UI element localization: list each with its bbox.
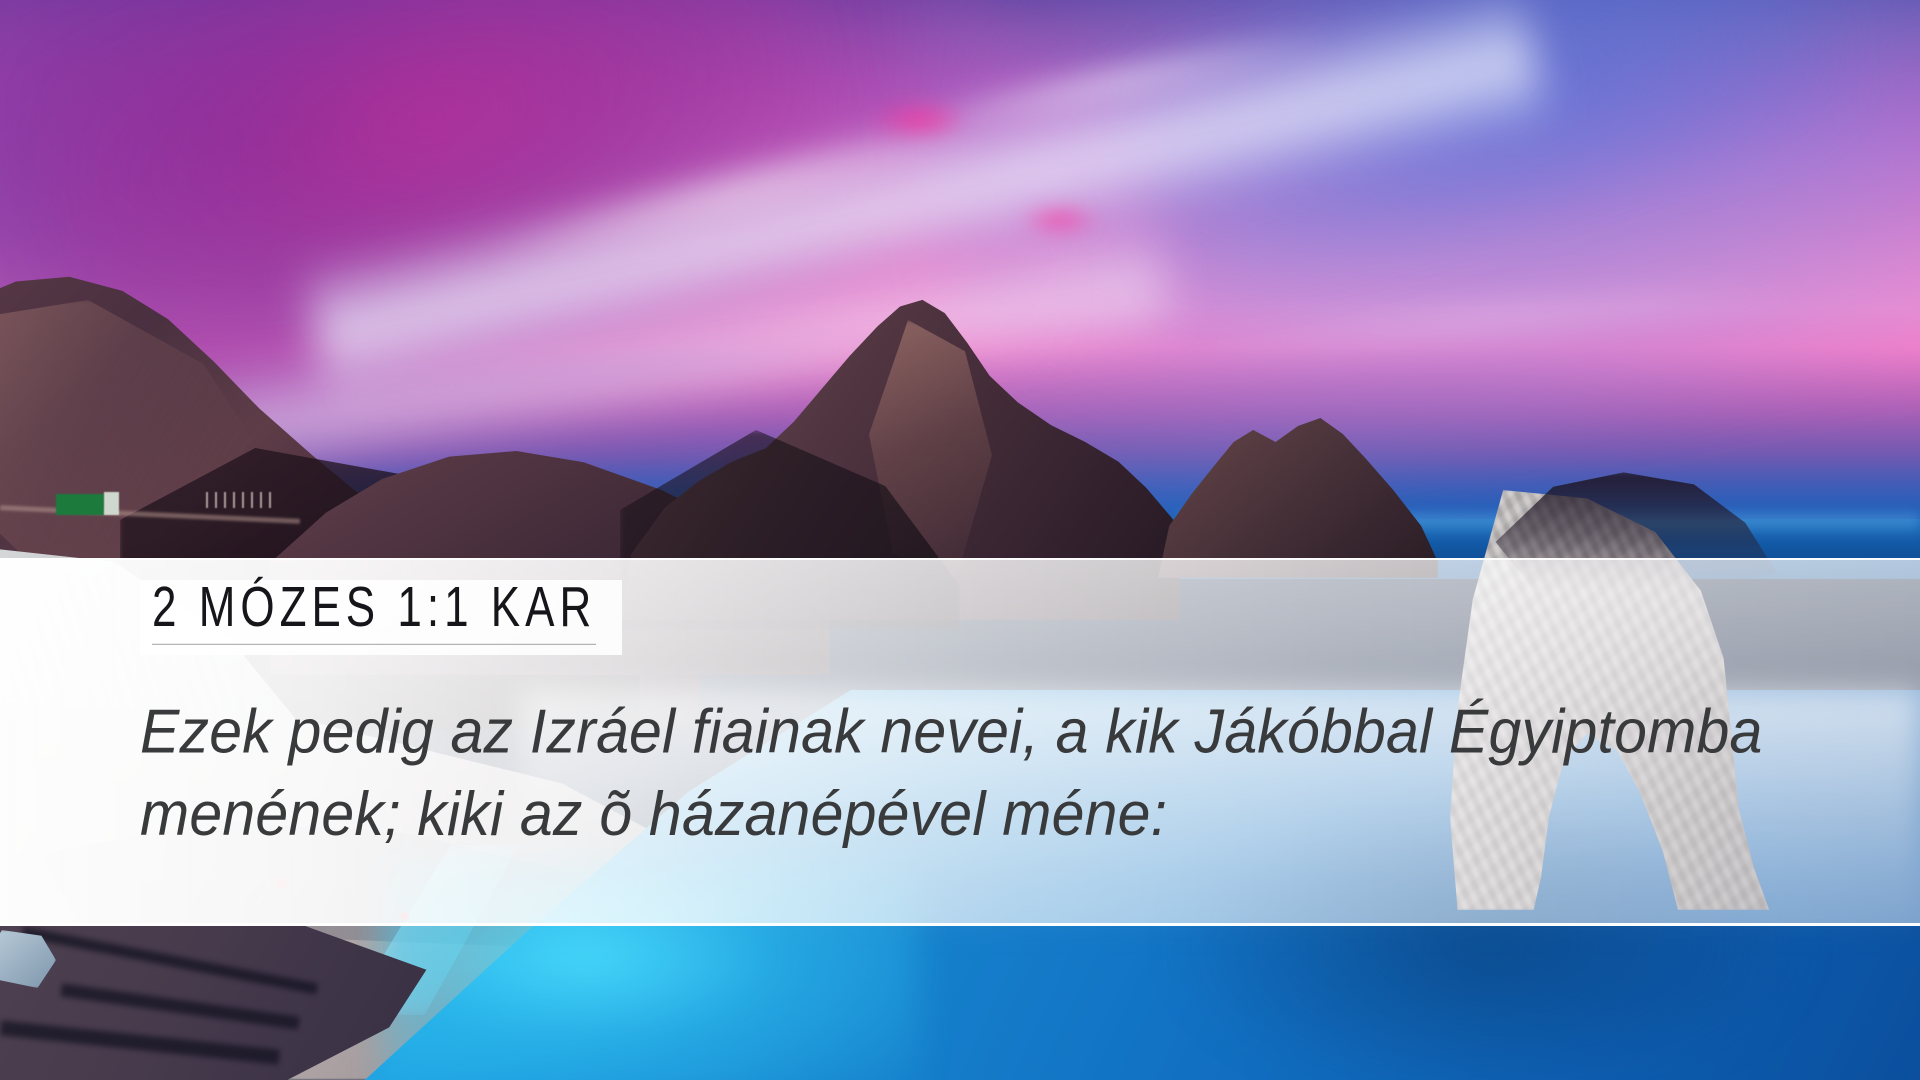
white-hut — [104, 492, 119, 515]
cliff-fence — [206, 492, 272, 508]
verse-reference: 2 MÓZES 1:1 KAR — [152, 580, 596, 645]
verse-panel-content: 2 MÓZES 1:1 KAR Ezek pedig az Izráel fia… — [140, 580, 1860, 847]
sky-pink-flare — [1020, 205, 1100, 235]
verse-reference-chip: 2 MÓZES 1:1 KAR — [140, 580, 622, 655]
verse-image-card: 2 MÓZES 1:1 KAR Ezek pedig az Izráel fia… — [0, 0, 1920, 1080]
green-hut — [56, 494, 104, 515]
verse-panel: 2 MÓZES 1:1 KAR Ezek pedig az Izráel fia… — [0, 558, 1920, 926]
verse-text: Ezek pedig az Izráel fiainak nevei, a ki… — [140, 691, 1800, 856]
sky-pink-flare — [870, 100, 970, 140]
